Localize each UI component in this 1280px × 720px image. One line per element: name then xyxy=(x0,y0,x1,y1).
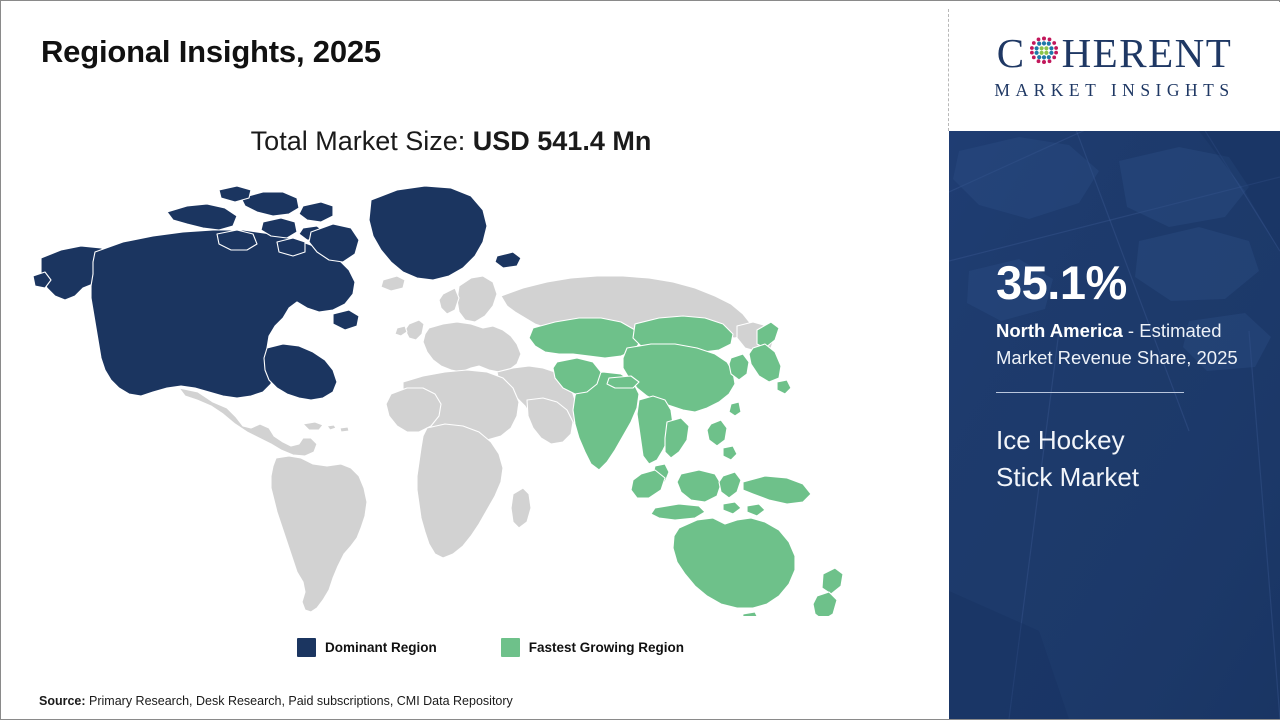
stat-sidebar: 35.1% North America - Estimated Market R… xyxy=(949,131,1280,719)
source-note: Source: Primary Research, Desk Research,… xyxy=(39,694,513,708)
logo-wordmark: C xyxy=(997,33,1233,74)
legend-label-fastest-growing: Fastest Growing Region xyxy=(529,640,684,655)
infographic-root: Regional Insights, 2025 Total Market Siz… xyxy=(0,0,1280,720)
source-label: Source: xyxy=(39,694,86,708)
dotted-globe-icon xyxy=(1027,33,1061,74)
total-market-size: Total Market Size: USD 541.4 Mn xyxy=(1,126,901,157)
legend-item-dominant: Dominant Region xyxy=(297,638,437,657)
market-name: Ice Hockey Stick Market xyxy=(996,422,1258,496)
page-title: Regional Insights, 2025 xyxy=(41,34,381,70)
legend-item-fastest-growing: Fastest Growing Region xyxy=(501,638,684,657)
stat-percentage: 35.1% xyxy=(996,259,1258,306)
market-size-value: USD 541.4 Mn xyxy=(473,126,652,156)
legend-swatch-dominant xyxy=(297,638,316,657)
map-region-asia-pacific xyxy=(529,316,843,616)
logo-letter-c: C xyxy=(997,33,1026,74)
legend-label-dominant: Dominant Region xyxy=(325,640,437,655)
market-name-line-1: Ice Hockey xyxy=(996,422,1258,459)
brand-logo: C xyxy=(949,2,1280,131)
world-map-svg xyxy=(31,176,871,616)
market-size-label: Total Market Size: xyxy=(251,126,466,156)
map-legend: Dominant Region Fastest Growing Region xyxy=(297,638,684,657)
market-name-line-2: Stick Market xyxy=(996,459,1258,496)
stat-caption: North America - Estimated Market Revenue… xyxy=(996,317,1258,372)
sidebar-content: 35.1% North America - Estimated Market R… xyxy=(996,259,1258,496)
stat-divider-rule xyxy=(996,392,1184,393)
logo-text-herent: HERENT xyxy=(1062,33,1233,74)
source-text: Primary Research, Desk Research, Paid su… xyxy=(86,694,513,708)
left-content-panel: Regional Insights, 2025 Total Market Siz… xyxy=(1,1,948,719)
world-map-container xyxy=(31,176,871,616)
legend-swatch-fastest-growing xyxy=(501,638,520,657)
logo-subline: MARKET INSIGHTS xyxy=(994,80,1234,101)
stat-region-name: North America xyxy=(996,320,1123,341)
